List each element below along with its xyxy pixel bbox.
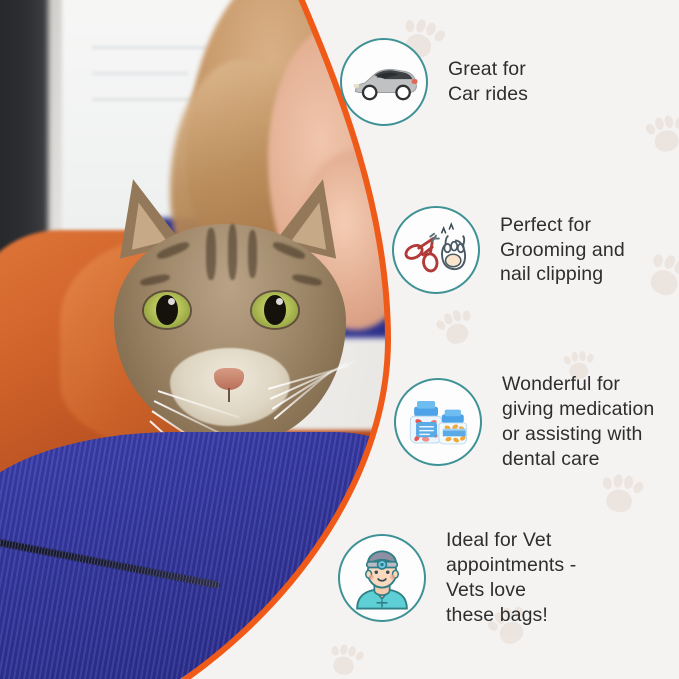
feature-label: Great for Car rides: [448, 57, 528, 107]
feature-label: Perfect for Grooming and nail clipping: [500, 213, 625, 288]
feature-list: Great for Car rides: [330, 0, 679, 679]
feature-item-medication: Wonderful for giving medication or assis…: [394, 372, 654, 472]
product-feature-infographic: Great for Car rides: [0, 0, 679, 679]
feature-item-vet: Ideal for Vet appointments - Vets love t…: [338, 528, 576, 628]
veterinarian-icon: [338, 534, 426, 622]
feature-item-grooming: Perfect for Grooming and nail clipping: [392, 206, 625, 294]
feature-label: Wonderful for giving medication or assis…: [502, 372, 654, 472]
feature-item-car-rides: Great for Car rides: [340, 38, 528, 126]
feature-label: Ideal for Vet appointments - Vets love t…: [446, 528, 576, 628]
car-icon: [340, 38, 428, 126]
nail-clipper-paw-icon: [392, 206, 480, 294]
pill-bottles-icon: [394, 378, 482, 466]
